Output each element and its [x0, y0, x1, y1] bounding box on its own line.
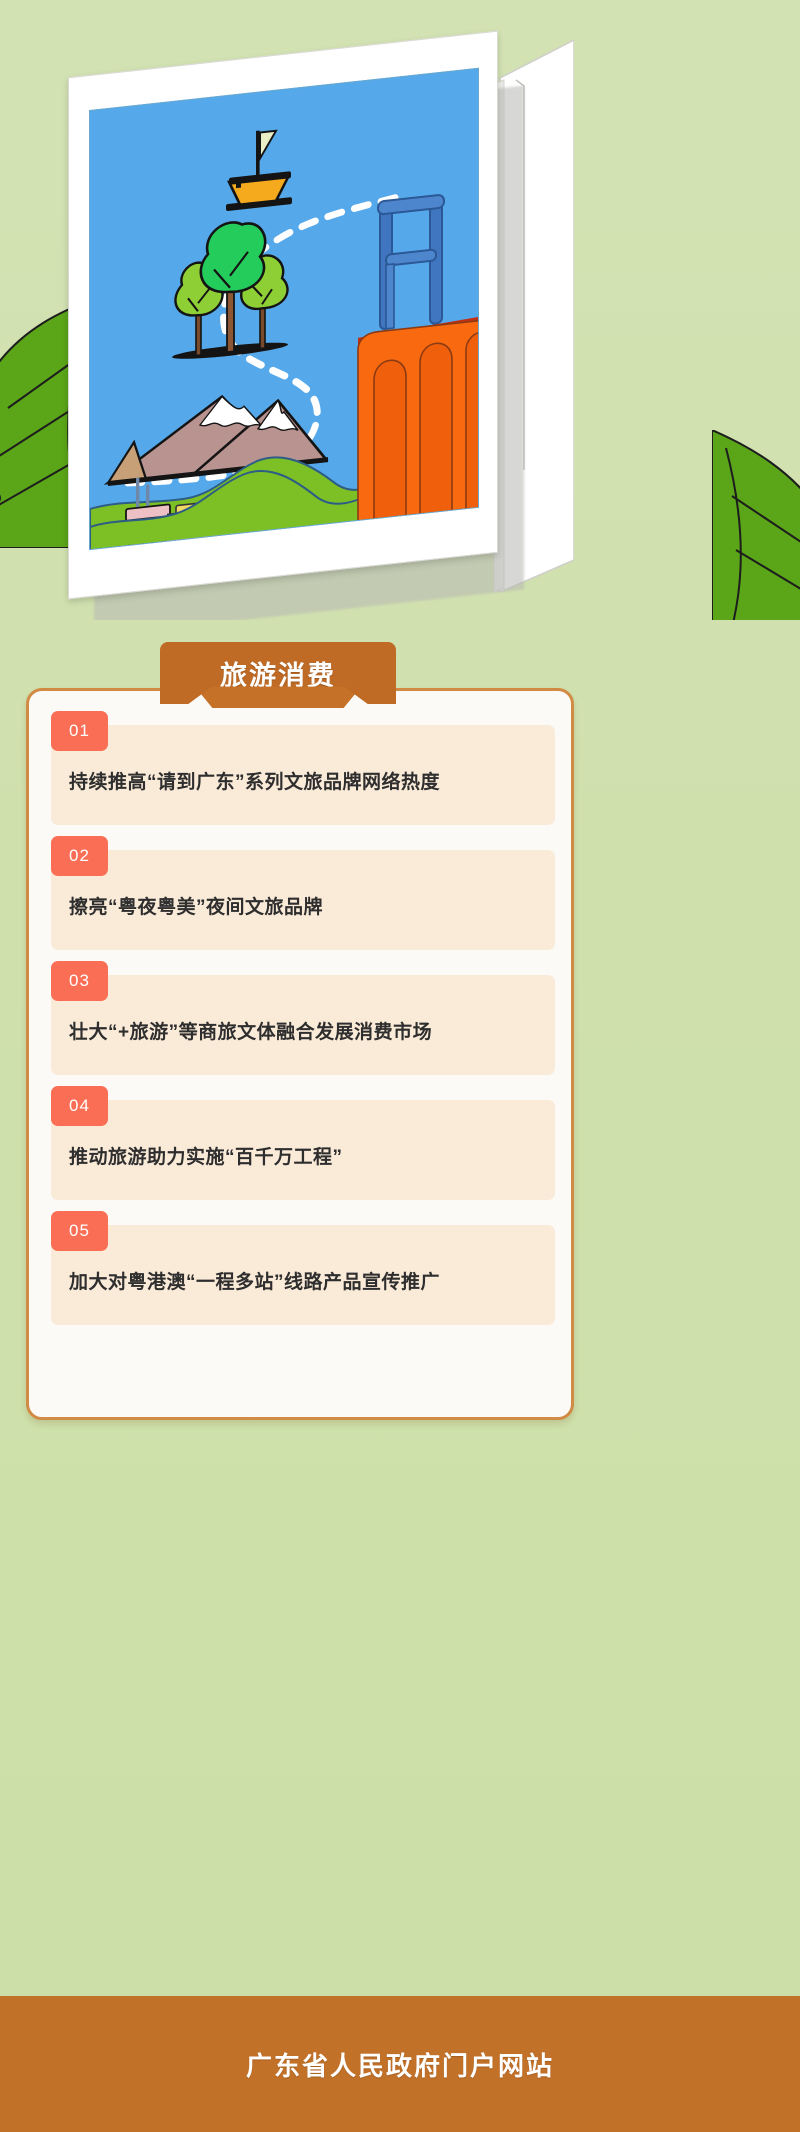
item-text: 擦亮“粤夜粤美”夜间文旅品牌 — [69, 894, 537, 923]
list-item[interactable]: 05 加大对粤港澳“一程多站”线路产品宣传推广 — [51, 1225, 555, 1325]
photo-canvas — [89, 68, 479, 550]
measures-list: 01 持续推高“请到广东”系列文旅品牌网络热度 02 擦亮“粤夜粤美”夜间文旅品… — [51, 725, 555, 1350]
item-text: 持续推高“请到广东”系列文旅品牌网络热度 — [69, 769, 537, 798]
footer-text: 广东省人民政府门户网站 — [246, 2046, 554, 2083]
list-item[interactable]: 04 推动旅游助力实施“百千万工程” — [51, 1100, 555, 1200]
item-number-badge: 05 — [51, 1211, 108, 1251]
item-text: 加大对粤港澳“一程多站”线路产品宣传推广 — [69, 1269, 537, 1298]
measures-card: 01 持续推高“请到广东”系列文旅品牌网络热度 02 擦亮“粤夜粤美”夜间文旅品… — [26, 688, 574, 1420]
item-number-badge: 01 — [51, 711, 108, 751]
item-text: 壮大“+旅游”等商旅文体融合发展消费市场 — [69, 1019, 537, 1048]
item-number-badge: 02 — [51, 836, 108, 876]
monstera-leaf-right-icon — [712, 430, 800, 620]
list-item[interactable]: 03 壮大“+旅游”等商旅文体融合发展消费市场 — [51, 975, 555, 1075]
hero-illustration — [0, 0, 800, 620]
list-item[interactable]: 02 擦亮“粤夜粤美”夜间文旅品牌 — [51, 850, 555, 950]
item-number-badge: 03 — [51, 961, 108, 1001]
infographic-page: 旅游消费 01 持续推高“请到广东”系列文旅品牌网络热度 02 擦亮“粤夜粤美”… — [0, 0, 800, 2132]
photo-frame — [68, 31, 498, 600]
item-text: 推动旅游助力实施“百千万工程” — [69, 1144, 537, 1173]
site-footer: 广东省人民政府门户网站 — [0, 1996, 800, 2132]
item-number-badge: 04 — [51, 1086, 108, 1126]
banner-tail — [196, 688, 360, 708]
list-item[interactable]: 01 持续推高“请到广东”系列文旅品牌网络热度 — [51, 725, 555, 825]
